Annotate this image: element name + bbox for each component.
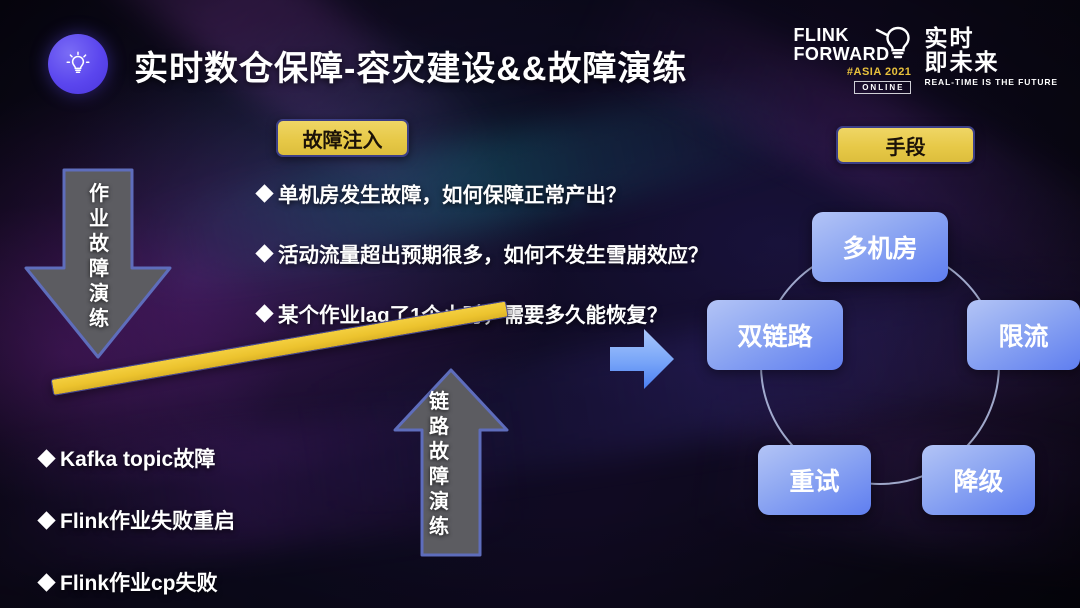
slogan-tagline: REAL-TIME IS THE FUTURE bbox=[924, 77, 1058, 87]
slogan-line-1: 实时 bbox=[924, 26, 1058, 50]
event-logo: FLINK FORWARD #ASIA 2021 ONLINE 实时 即未来 R… bbox=[793, 26, 1058, 100]
diamond-bullet-icon bbox=[255, 184, 273, 202]
slogan-line-2: 即未来 bbox=[924, 50, 1058, 74]
failure-text: Flink作业cp失败 bbox=[60, 567, 218, 597]
list-item: Flink作业失败重启 bbox=[40, 505, 340, 535]
means-box-degrade: 降级 bbox=[922, 445, 1035, 515]
fault-injection-tag: 故障注入 bbox=[276, 119, 409, 157]
means-box-dual-link: 双链路 bbox=[707, 300, 843, 370]
means-box-rate-limit: 限流 bbox=[967, 300, 1080, 370]
up-arrow-shape: 链路故障演练 bbox=[392, 368, 510, 558]
diamond-bullet-icon bbox=[255, 244, 273, 262]
means-tag: 手段 bbox=[836, 126, 975, 164]
failure-text: Flink作业失败重启 bbox=[60, 505, 235, 535]
question-text: 单机房发生故障，如何保障正常产出？ bbox=[278, 178, 627, 208]
list-item: Kafka topic故障 bbox=[40, 443, 340, 473]
lightbulb-badge bbox=[48, 34, 108, 94]
question-text: 活动流量超出预期很多，如何不发生雪崩效应？ bbox=[278, 238, 709, 268]
failure-text: Kafka topic故障 bbox=[60, 443, 215, 473]
logo-online-badge: ONLINE bbox=[854, 81, 911, 94]
diamond-bullet-icon bbox=[37, 511, 55, 529]
flink-forward-logo: FLINK FORWARD #ASIA 2021 ONLINE bbox=[793, 26, 911, 94]
lightbulb-icon bbox=[63, 49, 93, 79]
chinese-slogan-logo: 实时 即未来 REAL-TIME IS THE FUTURE bbox=[924, 26, 1058, 87]
diamond-bullet-icon bbox=[255, 304, 273, 322]
means-box-multi-idc: 多机房 bbox=[812, 212, 948, 282]
logo-subtitle: #ASIA 2021 bbox=[793, 66, 911, 78]
down-arrow-shape: 作业故障演练 bbox=[22, 168, 174, 360]
means-box-retry: 重试 bbox=[758, 445, 871, 515]
up-arrow-label: 链路故障演练 bbox=[426, 390, 452, 540]
diamond-bullet-icon bbox=[37, 449, 55, 467]
list-item: Flink作业cp失败 bbox=[40, 567, 340, 597]
flow-right-arrow bbox=[608, 327, 676, 391]
failures-list: Kafka topic故障 Flink作业失败重启 Flink作业cp失败 bbox=[40, 443, 340, 608]
slide-canvas: 实时数仓保障-容灾建设&&故障演练 FLINK FORWARD #ASIA 20… bbox=[0, 0, 1080, 608]
down-arrow-label: 作业故障演练 bbox=[86, 182, 112, 332]
arrow-right-icon bbox=[608, 327, 676, 391]
means-circle-diagram: 多机房 限流 降级 重试 双链路 bbox=[700, 190, 1080, 550]
diamond-bullet-icon bbox=[37, 573, 55, 591]
page-title: 实时数仓保障-容灾建设&&故障演练 bbox=[134, 41, 687, 90]
logo-bulb-icon bbox=[871, 20, 917, 66]
